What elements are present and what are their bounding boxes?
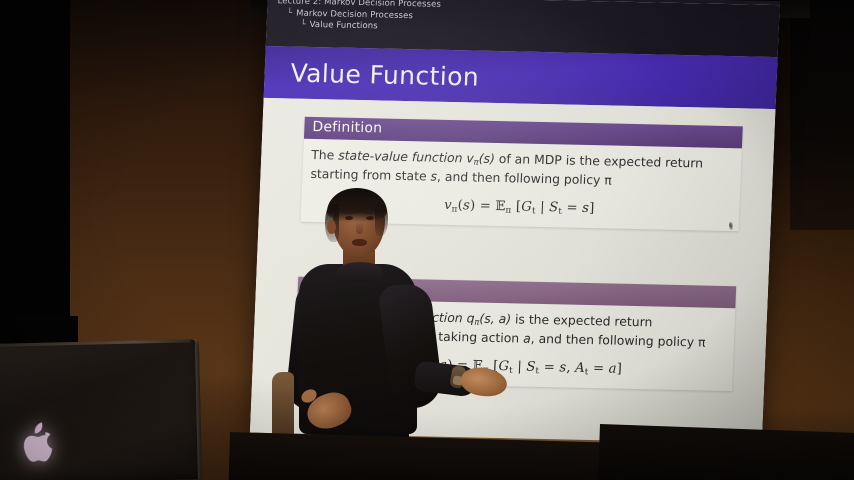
- presenter-eyebrow-left: [344, 211, 354, 214]
- breadcrumb-label-2: Value Functions: [309, 20, 378, 31]
- presenter-nose: [356, 222, 363, 234]
- presenter-hair-right: [375, 202, 388, 236]
- apple-logo-icon: [14, 416, 55, 465]
- presenter-eye-left: [345, 216, 353, 220]
- tree-branch-icon-2: └: [300, 20, 306, 30]
- definition-inline-math-v: vπ(s): [466, 150, 495, 166]
- presenter-eye-right: [366, 216, 374, 220]
- presenter-mouth: [352, 239, 367, 246]
- macbook-lid: [0, 339, 202, 480]
- stage-foreground-right: [598, 424, 854, 480]
- room-right-shadow: [790, 0, 854, 230]
- presenter-turtleneck-collar: [337, 262, 383, 282]
- presenter-eyebrow-right: [365, 211, 375, 214]
- breadcrumb-label-1: Markov Decision Processes: [296, 8, 413, 21]
- slide-title: Value Function: [290, 59, 480, 92]
- presenter-ear: [327, 220, 336, 234]
- tree-branch-icon-1: └: [287, 8, 293, 18]
- lecture-video-frame: Lecture 2: Markov Decision Processes └ M…: [0, 0, 854, 480]
- definition-state-symbol: s: [430, 168, 437, 183]
- definition-term-italic: state-value function: [338, 148, 463, 166]
